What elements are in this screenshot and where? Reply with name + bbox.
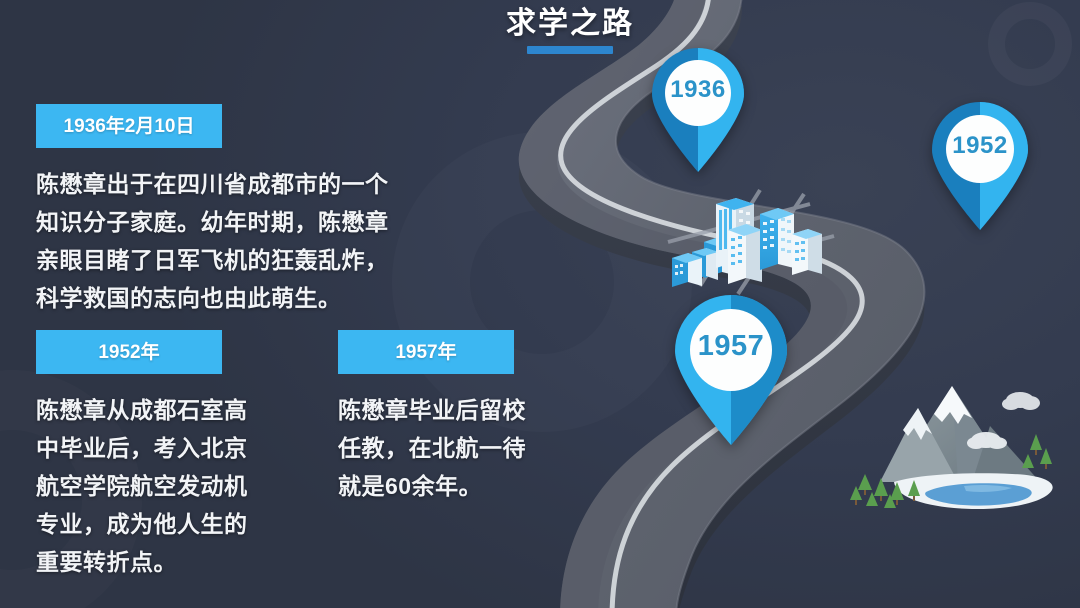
timeline-block-1952: 1952年 陈懋章从成都石室高 中毕业后，考入北京 航空学院航空发动机 专业，成… bbox=[36, 330, 306, 581]
building bbox=[760, 208, 794, 270]
building bbox=[728, 224, 762, 284]
map-pin-icon bbox=[928, 100, 1032, 232]
map-pin-icon bbox=[670, 292, 792, 447]
map-pin-label: 1936 bbox=[648, 76, 748, 104]
body-text-1936: 陈懋章出于在四川省成都市的一个 知识分子家庭。幼年时期，陈懋章 亲眼目睹了日军飞… bbox=[36, 165, 466, 317]
date-badge-1936: 1936年2月10日 bbox=[36, 104, 222, 148]
title-underline bbox=[527, 46, 613, 54]
date-badge-1957: 1957年 bbox=[338, 330, 514, 374]
page-title: 求学之路 bbox=[440, 2, 700, 46]
map-pin-1952[interactable]: 1952 bbox=[928, 100, 1032, 232]
map-pin-label: 1952 bbox=[928, 132, 1032, 160]
map-pin-1936[interactable]: 1936 bbox=[648, 46, 748, 174]
timeline-block-1936: 1936年2月10日 陈懋章出于在四川省成都市的一个 知识分子家庭。幼年时期，陈… bbox=[36, 104, 466, 317]
map-pin-label: 1957 bbox=[670, 330, 792, 363]
body-text-1952: 陈懋章从成都石室高 中毕业后，考入北京 航空学院航空发动机 专业，成为他人生的 … bbox=[36, 391, 306, 581]
map-pin-1957[interactable]: 1957 bbox=[670, 292, 792, 447]
map-pin-icon bbox=[648, 46, 748, 174]
timeline-block-1957: 1957年 陈懋章毕业后留校 任教，在北航一待 就是60余年。 bbox=[338, 330, 588, 505]
cloud bbox=[1002, 392, 1040, 410]
date-badge-1952: 1952年 bbox=[36, 330, 222, 374]
body-text-1957: 陈懋章毕业后留校 任教，在北航一待 就是60余年。 bbox=[338, 391, 588, 505]
slide-canvas: 求学之路 1936年2月10日 陈懋章出于在四川省成都市的一个 知识分子家庭。幼… bbox=[0, 0, 1080, 608]
mountain-illustration bbox=[850, 386, 1053, 509]
building bbox=[672, 253, 702, 287]
building bbox=[792, 229, 822, 275]
